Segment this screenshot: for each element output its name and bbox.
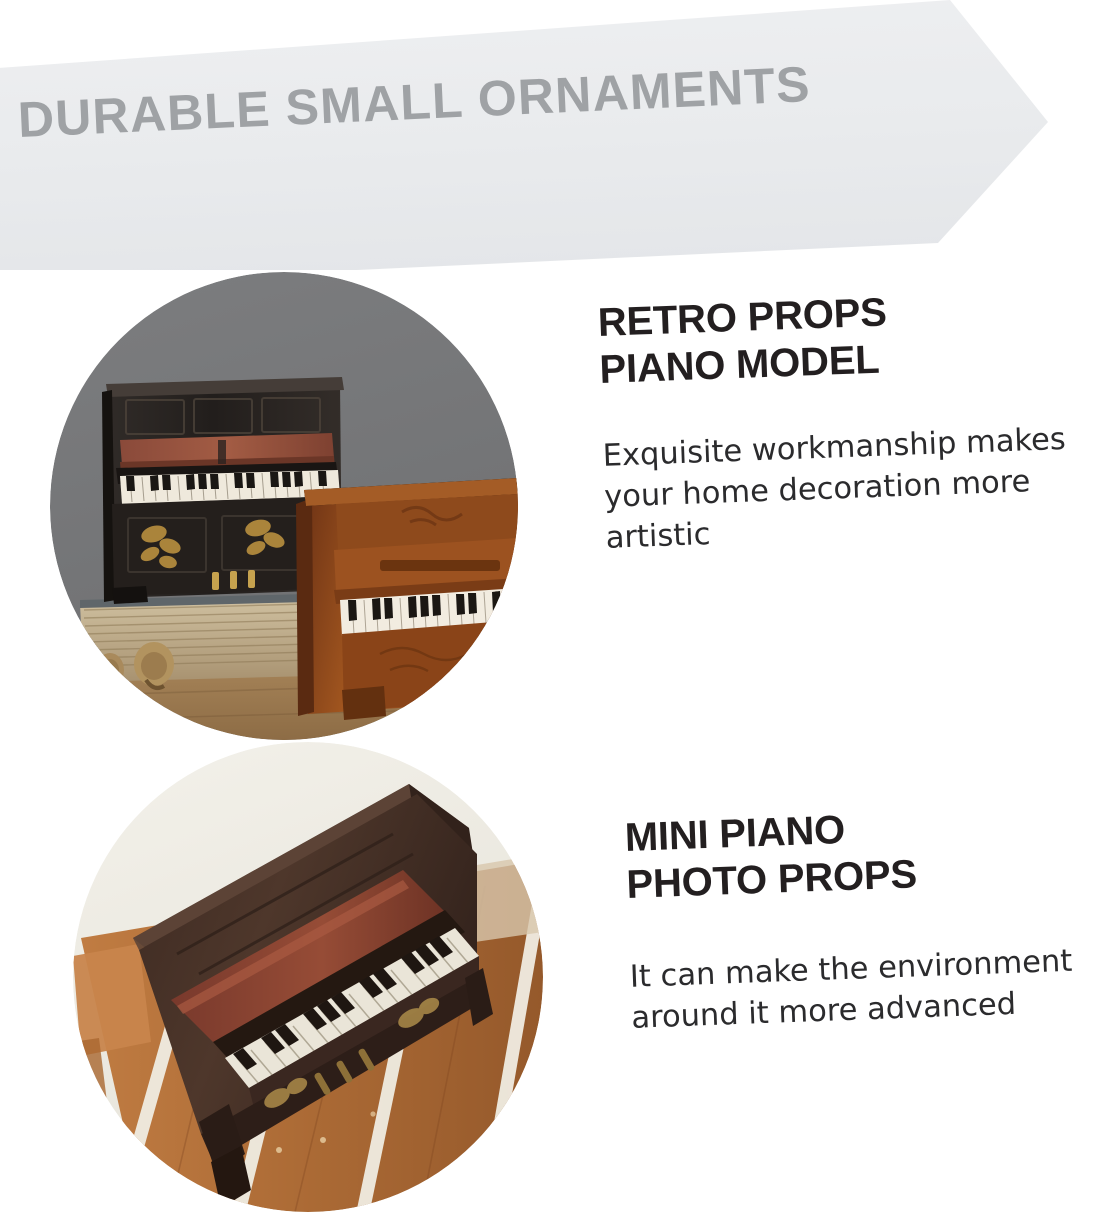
feature-description-mini-piano: It can make the environment around it mo… [629, 939, 1114, 1039]
header-banner: DURABLE SMALL ORNAMENTS [0, 0, 1114, 270]
feature-block-mini-piano: MINI PIANO PHOTO PROPS It can make the e… [624, 797, 1114, 1039]
feature-block-retro-props: RETRO PROPS PIANO MODEL Exquisite workma… [597, 281, 1114, 559]
mini-piano-angled-photo [73, 742, 543, 1212]
brown-piano-model [296, 478, 518, 720]
feature-description-retro-props: Exquisite workmanship makes your home de… [602, 417, 1114, 559]
fallboard-handle [380, 560, 500, 571]
feature-title-retro-props: RETRO PROPS PIANO MODEL [597, 281, 1114, 393]
retro-piano-pair-photo [50, 272, 518, 740]
feature-title-mini-piano: MINI PIANO PHOTO PROPS [624, 797, 1114, 908]
retro-piano-illustration [50, 272, 518, 740]
mini-piano-illustration [73, 742, 543, 1212]
background-panel [471, 854, 543, 942]
book-prop [80, 594, 312, 682]
black-piano-pedals [212, 570, 255, 590]
